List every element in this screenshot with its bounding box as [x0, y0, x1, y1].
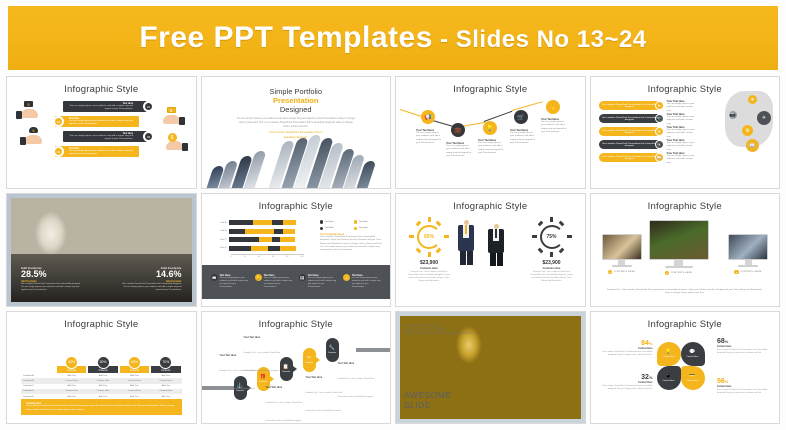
legend-item: Text Here: [354, 220, 382, 223]
table-col-2[interactable]: 50% Contents: [88, 356, 117, 374]
banner-title: Free PPT Templates - Slides No 13~24: [139, 21, 646, 55]
row-caption-1: Your Text Here You can simply impress yo…: [667, 100, 697, 113]
lightbulb-icon: 💡: [255, 274, 262, 281]
legend-swatch: [320, 227, 323, 230]
info-bar-1[interactable]: Text Here You can simply impress your au…: [63, 101, 147, 112]
slide-thumbnail-1[interactable]: Infographic Style $ $ $ $ Text Here You …: [6, 76, 197, 189]
money-block-2: $23,900 Contents Here Example Text : Get…: [530, 260, 574, 283]
monitor-caption-3: ● CONTENTS HERE: [728, 270, 768, 275]
monitor-screen-photo: [602, 234, 642, 260]
heart-icon: ♥: [655, 101, 664, 110]
process-step-4[interactable]: ✂Contents: [303, 348, 316, 372]
monitor-base: [665, 266, 693, 268]
row-bar-5[interactable]: Get a modern PowerPoint Presentation tha…: [599, 153, 661, 162]
timeline-node-2[interactable]: 💼: [451, 123, 465, 137]
image-icon: 🖼: [299, 274, 306, 281]
table-col-4[interactable]: 70% Contents: [151, 356, 180, 374]
monitor-2[interactable]: ● CONTENTS HERE: [649, 220, 709, 275]
book-icon: 📖: [211, 274, 218, 281]
bar-segment: [280, 237, 295, 242]
monitor-screen-photo: [649, 220, 709, 260]
bar-segment: [272, 237, 280, 242]
slide-thumbnail-8[interactable]: Infographic Style ● CONTENTS HERE ● CONT…: [590, 193, 781, 306]
camera-icon: 📷: [655, 114, 664, 123]
bullet-icon: ●: [734, 270, 739, 275]
row-bar-1[interactable]: Get a modern PowerPoint Presentation tha…: [599, 101, 661, 110]
bar-segment: [283, 229, 295, 234]
bullet-icon: ●: [665, 271, 670, 276]
bar-segment: [245, 229, 274, 234]
book-icon: 📖: [655, 153, 664, 162]
mobile-icon: 📱: [665, 373, 671, 379]
percent-block-3: 32% Content Here Get a modern PowerPoint…: [599, 374, 653, 391]
slide-thumbnail-4[interactable]: Infographic Style ♥ 📷 ✈ ⚙ 📖 Get a modern…: [590, 76, 781, 189]
page-root: Free PPT Templates - Slides No 13~24 Inf…: [0, 0, 786, 430]
slide-thumbnail-7[interactable]: Infographic Style 65% 75%: [395, 193, 586, 306]
step-caption-2: Your Text HereExample Text : Get a moder…: [244, 336, 286, 376]
panel-item-1[interactable]: 📖 Text HereYou can simply impress your a…: [211, 274, 249, 289]
table-col-3[interactable]: 60% Contents: [120, 356, 149, 374]
timeline-caption-4: Your Text Here You can simply impress yo…: [510, 129, 536, 145]
bar-segment: [251, 246, 268, 251]
chat-icon: 💬: [689, 349, 695, 355]
slide-thumbnail-6[interactable]: Infographic Style Task A Task B: [201, 193, 392, 306]
money-bill-icon: $: [167, 107, 176, 113]
map-marker-icon: ✈: [757, 111, 771, 125]
awesome-slide-headline: AWESOME SLIDE: [404, 390, 452, 411]
rocket-icon: ✈: [655, 140, 664, 149]
timeline-connector: [512, 101, 543, 111]
portfolio-line-1: Simple Portfolio: [202, 87, 391, 96]
timeline-node-1[interactable]: 📢: [421, 110, 435, 124]
timeline-node-4[interactable]: 🛒: [514, 110, 528, 124]
map-marker-icon: ⚙: [742, 125, 753, 136]
bar-segment: [272, 220, 283, 225]
bar-segment: [280, 246, 297, 251]
gauge-value-2: 75%: [540, 225, 564, 249]
arrow-icon: [316, 357, 320, 363]
pinwheel-circle-2[interactable]: 💬 Content Here: [681, 342, 705, 366]
percent-block-2: 68% Content Here Get a modern PowerPoint…: [717, 338, 771, 355]
chart-row: Task D: [220, 246, 304, 251]
portfolio-line-2: Presentation: [202, 96, 391, 105]
row-caption-2: Your Text Here You can simply impress yo…: [667, 113, 697, 126]
cuff-shape: [179, 117, 185, 125]
businessman-illustration-2: [488, 224, 504, 266]
slide-12-title: Infographic Style: [591, 319, 780, 330]
bar-segment: [283, 220, 297, 225]
timeline-caption-1: Your Text Here You can simply impress yo…: [416, 129, 442, 145]
panel-item-2[interactable]: 💡 Text HereYou can simply impress your a…: [255, 274, 293, 289]
map-marker-icon: 📖: [746, 139, 759, 152]
info-bar-4[interactable]: Text Here You can simply impress your au…: [55, 146, 139, 157]
pinwheel-circle-3[interactable]: 📱 Content Here: [657, 366, 681, 390]
bar-segment: [229, 237, 259, 242]
row-caption-4: Your Text Here You can simply impress yo…: [667, 139, 697, 152]
monitor-caption-1: ● CONTENTS HERE: [602, 270, 642, 275]
slide-3-title: Infographic Style: [396, 84, 585, 95]
businessman-illustration-1: [458, 220, 474, 265]
scissors-icon: ✂: [307, 355, 311, 361]
bullet-icon: ●: [608, 270, 613, 275]
slide-thumbnail-10[interactable]: Infographic Style ⚓Contents 🎁Contents 📋C…: [201, 311, 392, 424]
slide-thumbnail-11[interactable]: LOREM IPSUM DOLOR SIT AMET CONSECTETUR A…: [395, 311, 586, 424]
legend-item: Text Here: [320, 227, 348, 230]
chart-legend: Text Here Text Here Text Here Text Here …: [320, 220, 382, 252]
percent-block-4: 56% Content Here Get a modern PowerPoint…: [717, 378, 771, 395]
info-bar-4-number: 04: [53, 146, 64, 157]
chart-x-axis: 0 20 40 60 80 100: [231, 254, 304, 258]
slide-10-title: Infographic Style: [202, 319, 391, 330]
stacked-bar-chart: Task A Task B: [220, 220, 304, 258]
gear-icon: ⚙: [655, 127, 664, 136]
percent-block-1: 84% Content Here Get a modern PowerPoint…: [599, 340, 653, 357]
banner-title-sub: - Slides No 13~24: [433, 26, 647, 53]
arrow-icon: [293, 366, 297, 372]
rail-segment: [356, 348, 390, 352]
step-caption-3: Your Text HereExample Text : Get a moder…: [266, 386, 308, 424]
timeline-caption-5: Your Text Here You can simply impress yo…: [541, 118, 567, 134]
legend-swatch: [354, 220, 357, 223]
stat-block-2: Add Contents 14.6% Add Contents Get a mo…: [122, 266, 182, 292]
timeline-caption-2: Your Text Here You can simply impress yo…: [446, 142, 472, 158]
money-bill-icon: $: [24, 101, 33, 107]
stat-block-1: Add Contents 28.5% Add Contents Get a mo…: [21, 266, 81, 292]
pinwheel-circle-4[interactable]: 💳 Content Here: [681, 366, 705, 390]
hand-icon: [166, 141, 183, 150]
slide-1-title: Infographic Style: [7, 84, 196, 95]
smile-icon: ☺: [343, 274, 350, 281]
legend-swatch: [354, 227, 357, 230]
cuff-shape: [182, 143, 188, 151]
comparison-table: 40% Contents 50% Contents 60% Contents 7…: [21, 356, 182, 405]
cuff-shape: [20, 137, 26, 145]
money-block-1: $23,900 Contents Here Example Text : Get…: [407, 260, 451, 283]
monitor-base: [612, 265, 632, 267]
map-marker-icon: ♥: [748, 95, 757, 104]
process-step-5[interactable]: 🔧Contents: [326, 338, 339, 362]
monitor-base: [738, 265, 758, 267]
slide-thumbnail-5[interactable]: Add Contents 28.5% Add Contents Get a mo…: [6, 193, 197, 306]
gauge-gear-2: 75%: [533, 218, 571, 256]
card-icon: 💳: [689, 373, 695, 379]
lorem-caption: LOREM IPSUM DOLOR SIT AMET CONSECTETUR A…: [404, 324, 472, 337]
portfolio-line-3: Designed: [202, 105, 391, 114]
slide-thumbnail-grid: Infographic Style $ $ $ $ Text Here You …: [0, 74, 786, 430]
monitor-3[interactable]: ● CONTENTS HERE: [728, 234, 768, 274]
chart-row: Task A: [220, 220, 304, 225]
info-bar-3[interactable]: Text Here You can simply impress your au…: [63, 131, 147, 142]
info-bar-2[interactable]: Text Here You can simply impress your au…: [55, 116, 139, 127]
monitor-1[interactable]: ● CONTENTS HERE: [602, 234, 642, 274]
coin-dollar-icon: $: [168, 133, 177, 142]
table-col-1[interactable]: 40% Contents: [57, 356, 86, 374]
bar-segment: [229, 220, 253, 225]
chart-row: Task C: [220, 237, 304, 242]
slide-7-title: Infographic Style: [396, 201, 585, 212]
step-caption-5: Your Text HereExample Text : Get a moder…: [338, 362, 380, 402]
monitor-caption-2: ● CONTENTS HERE: [649, 271, 709, 276]
info-bar-1-number: 01: [143, 101, 154, 112]
row-bar-4[interactable]: Get a modern PowerPoint Presentation tha…: [599, 140, 661, 149]
legend-swatch: [320, 220, 323, 223]
pinwheel-circle-1[interactable]: 💡 Content Here: [657, 342, 681, 366]
hand-icon: [21, 109, 38, 118]
row-caption-3: Your Text Here You can simply impress yo…: [667, 126, 697, 139]
monitor-screen-photo: [728, 234, 768, 260]
panel-item-4[interactable]: ☺ Text HereYou can simply impress your a…: [343, 274, 381, 289]
panel-item-3[interactable]: 🖼 Text HereYou can simply impress your a…: [299, 274, 337, 289]
info-bar-2-number: 02: [53, 116, 64, 127]
slide-thumbnail-12[interactable]: Infographic Style 💡 Content Here 💬 Conte…: [590, 311, 781, 424]
header-banner: Free PPT Templates - Slides No 13~24: [8, 6, 778, 70]
row-bar-2[interactable]: Get a modern PowerPoint Presentation tha…: [599, 114, 661, 123]
legend-item: Text Here: [320, 220, 348, 223]
cuff-shape: [16, 111, 22, 119]
slide-thumbnail-2[interactable]: Simple Portfolio Presentation Designed Y…: [201, 76, 392, 189]
bottom-icon-panel: 📖 Text HereYou can simply impress your a…: [202, 265, 391, 299]
legend-item: Text Here: [354, 227, 382, 230]
timeline-node-3[interactable]: 💡: [483, 121, 497, 135]
chart-row: Task B: [220, 229, 304, 234]
row-caption-5: Your Text Here You can simply impress yo…: [667, 152, 697, 165]
slide-6-title: Infographic Style: [202, 201, 391, 212]
bar-segment: [229, 229, 246, 234]
chart-side-text: Your Contents Here Get a modern PowerPoi…: [320, 233, 382, 252]
portfolio-body: You can simply impress your audience and…: [202, 117, 391, 129]
gauge-gear-1: 65%: [410, 218, 448, 256]
hand-icon: [25, 135, 42, 144]
banner-title-main: Free PPT Templates: [139, 21, 433, 54]
tools-icon: 🔧: [329, 345, 335, 351]
slide-8-title: Infographic Style: [591, 201, 780, 212]
bar-segment: [253, 220, 273, 225]
info-bar-3-number: 03: [143, 131, 154, 142]
table-header-row: 40% Contents 50% Contents 60% Contents 7…: [56, 356, 182, 374]
slide-thumbnail-3[interactable]: Infographic Style 📢 💼 💡 🛒 👆 Your Text He…: [395, 76, 586, 189]
bar-segment: [259, 237, 273, 242]
map-marker-icon: 📷: [729, 111, 737, 119]
arrow-icon: [270, 376, 274, 382]
timeline-node-5[interactable]: 👆: [546, 100, 560, 114]
slide-8-footer: Example Text : Get a modern PowerPoint P…: [605, 289, 766, 296]
money-bag-icon: $: [29, 127, 38, 133]
bar-segment: [274, 229, 283, 234]
bar-segment: [268, 246, 280, 251]
table-footer-note: Content Here Get a modern PowerPoint Pre…: [21, 399, 182, 415]
slide-9-title: Infographic Style: [7, 319, 196, 330]
bar-segment: [229, 246, 252, 251]
row-bar-3[interactable]: Get a modern PowerPoint Presentation tha…: [599, 127, 661, 136]
diagonal-photo-strips: [201, 130, 392, 188]
slide-thumbnail-9[interactable]: Infographic Style 40% Contents 50% Conte…: [6, 311, 197, 424]
timeline-caption-3: Your Text Here You can simply impress yo…: [478, 139, 504, 155]
bulb-icon: 💡: [665, 349, 671, 355]
gauge-value-1: 65%: [417, 225, 441, 249]
hand-icon: [163, 115, 180, 124]
